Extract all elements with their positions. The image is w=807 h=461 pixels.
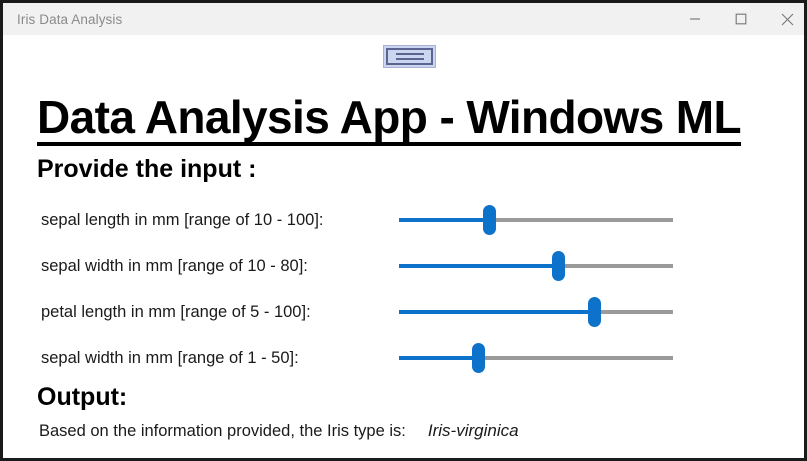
output-value: Iris-virginica — [406, 421, 519, 440]
slider-thumb[interactable] — [552, 251, 565, 281]
titlebar[interactable]: Iris Data Analysis — [3, 3, 807, 35]
petal-length-slider[interactable] — [399, 295, 673, 329]
page-title: Data Analysis App - Windows ML — [37, 93, 741, 146]
sepal-length-label: sepal length in mm [range of 10 - 100]: — [41, 203, 324, 237]
sepal-width-label: sepal width in mm [range of 10 - 80]: — [41, 249, 308, 283]
horizontal-bars-icon — [396, 53, 424, 60]
slider-row-sepal-length: sepal length in mm [range of 10 - 100]: — [41, 203, 681, 237]
slider-fill — [399, 218, 489, 222]
window-controls — [672, 3, 807, 35]
sepal-width-slider[interactable] — [399, 249, 673, 283]
minimize-button[interactable] — [672, 3, 718, 35]
minimize-icon — [689, 13, 701, 25]
close-button[interactable] — [764, 3, 807, 35]
slider-fill — [399, 356, 478, 360]
output-prefix: Based on the information provided, the I… — [39, 422, 406, 440]
slider-row-petal-width: sepal width in mm [range of 1 - 50]: — [41, 341, 681, 375]
input-section-heading: Provide the input : — [37, 155, 256, 184]
app-window: Iris Data Analysis — [0, 0, 807, 461]
petal-width-slider[interactable] — [399, 341, 673, 375]
close-icon — [781, 13, 794, 26]
content-area: Data Analysis App - Windows ML Provide t… — [3, 35, 804, 458]
petal-length-label: petal length in mm [range of 5 - 100]: — [41, 295, 311, 329]
slider-row-petal-length: petal length in mm [range of 5 - 100]: — [41, 295, 681, 329]
petal-width-label: sepal width in mm [range of 1 - 50]: — [41, 341, 299, 375]
slider-fill — [399, 264, 558, 268]
slider-fill — [399, 310, 594, 314]
output-section-heading: Output: — [37, 383, 127, 412]
maximize-icon — [735, 13, 747, 25]
focused-toolbar-button-inner — [386, 48, 433, 65]
maximize-button[interactable] — [718, 3, 764, 35]
focused-toolbar-button[interactable] — [383, 45, 436, 68]
output-line: Based on the information provided, the I… — [39, 421, 519, 441]
sepal-length-slider[interactable] — [399, 203, 673, 237]
slider-thumb[interactable] — [472, 343, 485, 373]
slider-row-sepal-width: sepal width in mm [range of 10 - 80]: — [41, 249, 681, 283]
window-title: Iris Data Analysis — [3, 12, 122, 27]
slider-thumb[interactable] — [588, 297, 601, 327]
slider-thumb[interactable] — [483, 205, 496, 235]
